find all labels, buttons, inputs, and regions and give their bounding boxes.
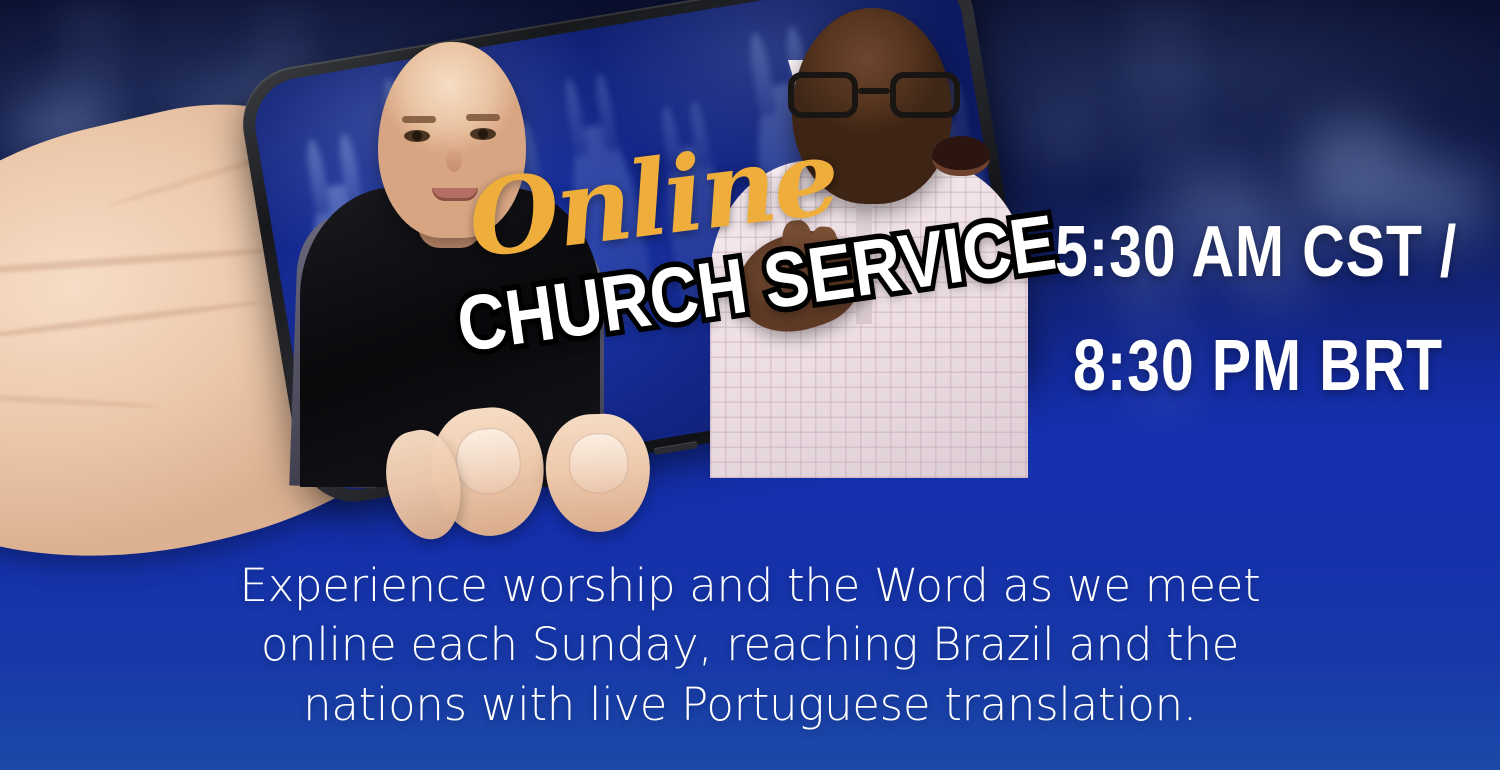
description-line-2: online each Sunday, reaching Brazil and … [0, 615, 1500, 674]
description-line-1: Experience worship and the Word as we me… [0, 556, 1500, 615]
description-line-3: nations with live Portuguese translation… [0, 675, 1500, 734]
glasses-icon [788, 72, 960, 118]
promo-banner: Online CHURCH SERVICE 5:30 AM CST / 8:30… [0, 0, 1500, 770]
service-time-brt: 8:30 PM BRT [1055, 310, 1383, 424]
service-time-cst: 5:30 AM CST / [1055, 196, 1383, 310]
description-paragraph: Experience worship and the Word as we me… [0, 556, 1500, 734]
service-time-block: 5:30 AM CST / 8:30 PM BRT [1055, 196, 1455, 424]
phone-power-button [653, 441, 698, 455]
